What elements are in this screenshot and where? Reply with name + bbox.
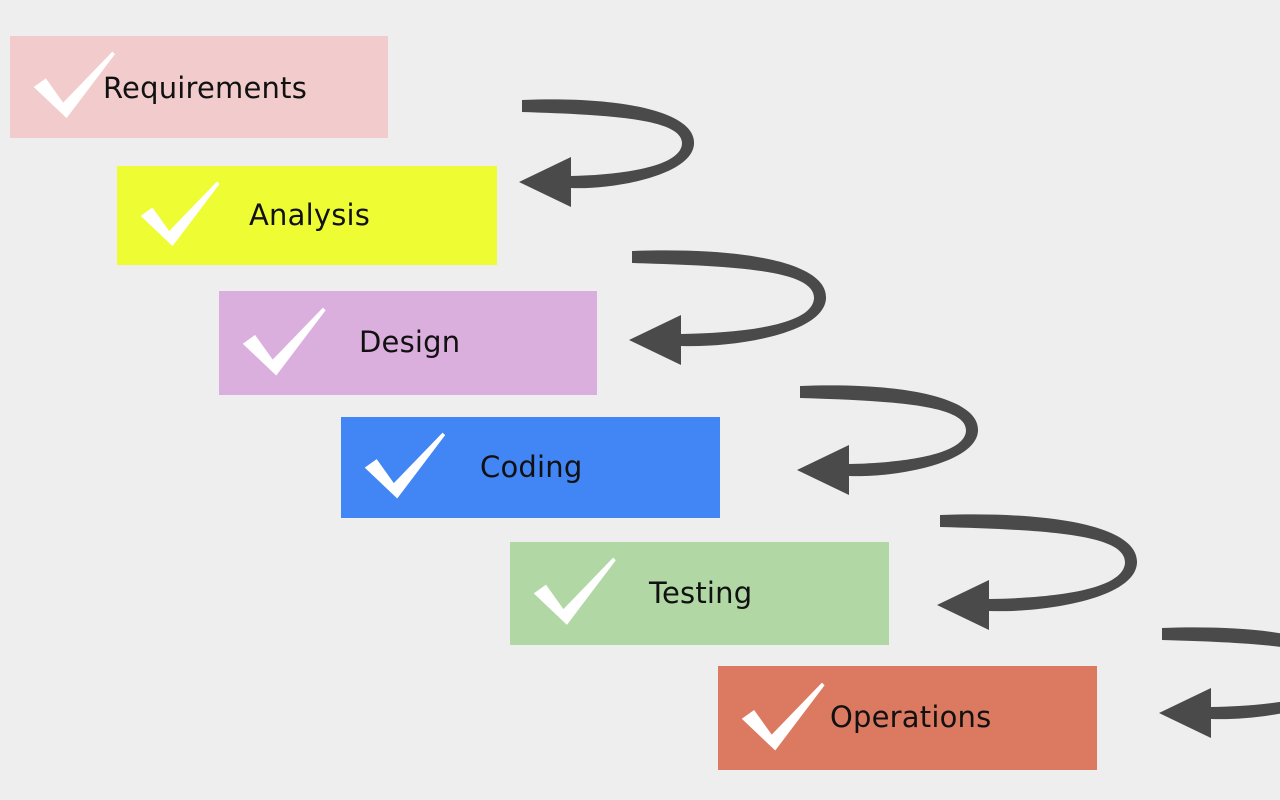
check-mark-stroke xyxy=(141,181,220,246)
feedback-arrow-4-shape xyxy=(937,514,1137,630)
check-mark-stroke xyxy=(742,682,825,750)
feedback-arrow-3-shape xyxy=(797,385,978,495)
feedback-arrow-4 xyxy=(937,514,1137,630)
feedback-arrow-1-shape xyxy=(519,99,694,207)
feedback-arrow-3 xyxy=(797,385,978,495)
phase-label-requirements: Requirements xyxy=(103,74,307,103)
phase-label-testing: Testing xyxy=(649,579,752,608)
phase-label-operations: Operations xyxy=(830,703,991,732)
check-mark-icon xyxy=(241,305,329,384)
check-mark-icon xyxy=(740,680,828,759)
feedback-arrow-5-shape xyxy=(1159,627,1280,738)
phase-label-analysis: Analysis xyxy=(249,201,370,230)
feedback-arrow-2 xyxy=(629,250,826,365)
feedback-arrow-1 xyxy=(519,99,694,207)
phase-label-design: Design xyxy=(359,328,460,357)
feedback-arrow-5 xyxy=(1159,627,1280,738)
check-mark-stroke xyxy=(243,307,326,375)
check-mark-stroke xyxy=(534,558,616,625)
check-mark-icon xyxy=(139,179,223,255)
check-mark-icon xyxy=(363,430,449,507)
check-mark-icon xyxy=(532,555,619,634)
feedback-arrow-2-shape xyxy=(629,250,826,365)
waterfall-diagram: RequirementsAnalysisDesignCodingTestingO… xyxy=(0,0,1280,800)
check-mark-stroke xyxy=(365,433,445,499)
phase-label-coding: Coding xyxy=(480,453,582,482)
